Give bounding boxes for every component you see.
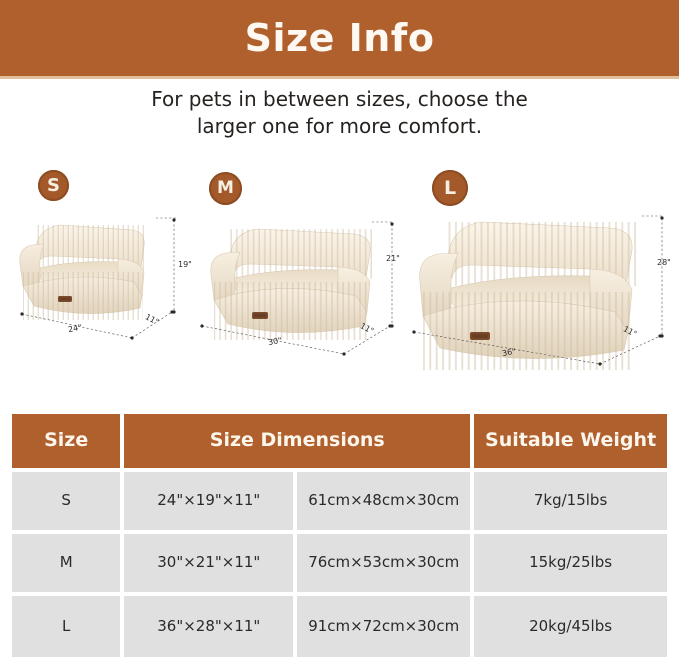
size-badge-m-label: M	[217, 180, 234, 197]
size-badge-s-label: S	[47, 177, 60, 195]
table-header-dimensions: Size Dimensions	[124, 414, 470, 468]
dimension-height-small: 19"	[178, 260, 192, 269]
pet-bed-illustration-small	[14, 212, 154, 324]
dimension-width-small: 24"	[67, 323, 82, 334]
cell-dimensions-cm: 91cm×72cm×30cm	[297, 596, 470, 657]
pet-bed-illustration-medium	[204, 216, 382, 344]
size-badge-s: S	[38, 170, 69, 201]
cell-size: L	[12, 596, 120, 657]
dimension-depth-small: 11"	[144, 312, 160, 326]
subtitle-line-1: For pets in between sizes, choose the	[0, 86, 679, 113]
cell-dimensions-inches: 24"×19"×11"	[124, 472, 293, 530]
cell-size: M	[12, 534, 120, 592]
table-header-size: Size	[12, 414, 120, 468]
subtitle-line-2: larger one for more comfort.	[0, 113, 679, 140]
product-figure-large: L	[404, 160, 679, 390]
dimension-height-medium: 21"	[386, 254, 400, 263]
size-badge-l: L	[432, 170, 468, 206]
cell-dimensions-cm: 76cm×53cm×30cm	[297, 534, 470, 592]
pet-bed-illustration-large	[412, 208, 646, 376]
table-row: M 30"×21"×11" 76cm×53cm×30cm 15kg/25lbs	[12, 534, 667, 592]
size-badge-m: M	[209, 172, 242, 205]
cell-weight: 20kg/45lbs	[474, 596, 667, 657]
cell-size: S	[12, 472, 120, 530]
product-showcase: S	[0, 160, 679, 405]
table-header-row: Size Size Dimensions Suitable Weight	[12, 414, 667, 468]
table-row: L 36"×28"×11" 91cm×72cm×30cm 20kg/45lbs	[12, 596, 667, 657]
banner-underline-divider	[0, 76, 679, 79]
cell-weight: 15kg/25lbs	[474, 534, 667, 592]
table-header-weight: Suitable Weight	[474, 414, 667, 468]
cell-dimensions-inches: 36"×28"×11"	[124, 596, 293, 657]
dimension-height-large: 28"	[657, 258, 671, 267]
size-badge-l-label: L	[444, 179, 456, 198]
page-header-banner: Size Info	[0, 0, 679, 76]
table-row: S 24"×19"×11" 61cm×48cm×30cm 7kg/15lbs	[12, 472, 667, 530]
page-title: Size Info	[245, 19, 435, 57]
size-table: Size Size Dimensions Suitable Weight S 2…	[12, 414, 667, 657]
subtitle-block: For pets in between sizes, choose the la…	[0, 86, 679, 140]
product-figure-small: S	[6, 160, 201, 360]
product-figure-medium: M	[196, 160, 411, 375]
cell-dimensions-inches: 30"×21"×11"	[124, 534, 293, 592]
dimension-width-medium: 30"	[267, 336, 282, 347]
cell-weight: 7kg/15lbs	[474, 472, 667, 530]
cell-dimensions-cm: 61cm×48cm×30cm	[297, 472, 470, 530]
